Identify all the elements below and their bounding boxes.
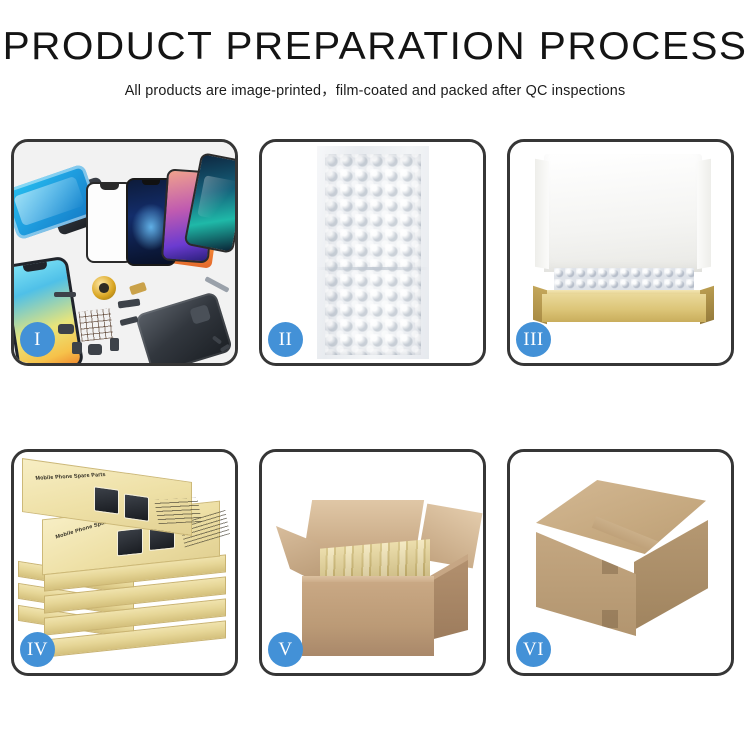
sealed-carton-left-panel (536, 532, 636, 636)
step-badge-2: II (268, 322, 303, 357)
step-badge-5: V (268, 632, 303, 667)
step-badge-4: IV (20, 632, 55, 667)
copper-chip-part (79, 308, 114, 341)
small-part (72, 342, 82, 354)
tweezers-tool (204, 276, 229, 293)
product-preparation-infographic: PRODUCT PREPARATION PROCESS All products… (0, 0, 750, 750)
phone-back-housing (135, 291, 233, 363)
carton-side-panel (430, 560, 468, 640)
page-subtitle: All products are image-printed，film-coat… (0, 79, 750, 100)
kraft-box-front (542, 294, 706, 322)
process-step-panel-6: VI (507, 449, 734, 676)
box-phone-image (94, 486, 119, 514)
bubble-wrap-pouch (317, 146, 429, 359)
process-step-grid: I II III (11, 139, 739, 676)
flex-cable-part (120, 316, 139, 326)
process-step-panel-4: Mobile Phone Spare Parts Mobile Phone Sp… (11, 449, 238, 676)
gold-bracket-part (129, 282, 147, 296)
chip-grid-pattern (79, 308, 114, 341)
step-badge-3: III (516, 322, 551, 357)
white-box-lid (544, 154, 702, 272)
pouch-seam (317, 267, 429, 270)
small-part (58, 324, 74, 334)
carton-front-panel (302, 582, 434, 656)
process-step-panel-2: II (259, 139, 486, 366)
box-label-text: Mobile Phone Spare Parts (35, 472, 106, 482)
process-step-panel-1: I (11, 139, 238, 366)
small-part (54, 292, 76, 297)
page-title: PRODUCT PREPARATION PROCESS (0, 26, 750, 67)
step-badge-6: VI (516, 632, 551, 667)
small-part (118, 299, 141, 309)
header: PRODUCT PREPARATION PROCESS All products… (0, 0, 750, 100)
speaker-coil-part (92, 276, 116, 300)
bubble-pattern (325, 154, 421, 355)
small-part (88, 344, 102, 355)
step-badge-1: I (20, 322, 55, 357)
box-phone-image (117, 528, 143, 557)
process-step-panel-5: V (259, 449, 486, 676)
flap-seam-mark (602, 610, 618, 628)
box-phone-image (124, 493, 149, 521)
teal-flagship-phone (183, 152, 235, 254)
process-step-panel-3: III (507, 139, 734, 366)
small-part (110, 338, 119, 351)
box-spec-lines (154, 497, 201, 523)
flap-seam-mark (602, 556, 618, 574)
